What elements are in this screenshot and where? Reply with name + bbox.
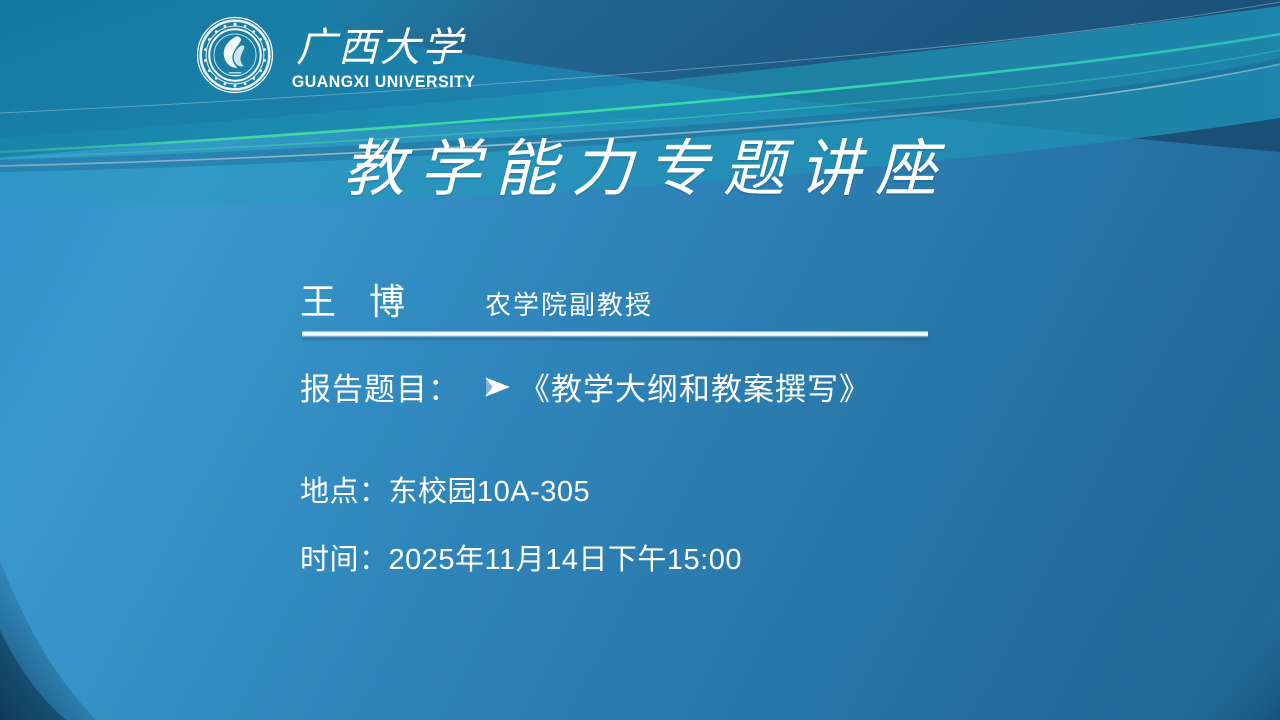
venue-line: 地点：东校园10A-305 xyxy=(300,478,590,507)
speaker-divider xyxy=(302,331,928,338)
background-decoration xyxy=(0,0,1280,720)
topic-value: 《教学大纲和教案撰写》 xyxy=(519,374,871,405)
arrowhead-bullet-icon xyxy=(484,376,511,398)
slide-title: 教学能力专题讲座 xyxy=(0,139,1280,201)
brand-name-cn-text: 广西大学 xyxy=(296,25,466,70)
speaker-position: 农学院副教授 xyxy=(485,293,653,319)
speaker-row: 王 博 农学院副教授 xyxy=(300,284,653,320)
topic-label: 报告题目： xyxy=(300,374,460,405)
speaker-name: 王 博 xyxy=(300,284,417,320)
brand-wordmark: 广西大学 GUANGXI UNIVERSITY xyxy=(288,19,479,91)
brand-logo: 广西大学 GUANGXI UNIVERSITY xyxy=(196,16,479,94)
time-line: 时间：2025年11月14日下午15:00 xyxy=(300,546,742,575)
university-seal-icon xyxy=(196,16,274,94)
brand-name-cn-icon: 广西大学 xyxy=(296,23,472,71)
brand-name-en: GUANGXI UNIVERSITY xyxy=(292,74,476,91)
presentation-slide: 广西大学 GUANGXI UNIVERSITY 教学能力专题讲座 王 博 农学院… xyxy=(0,0,1280,720)
topic-row: 报告题目： 《教学大纲和教案撰写》 xyxy=(300,374,871,405)
